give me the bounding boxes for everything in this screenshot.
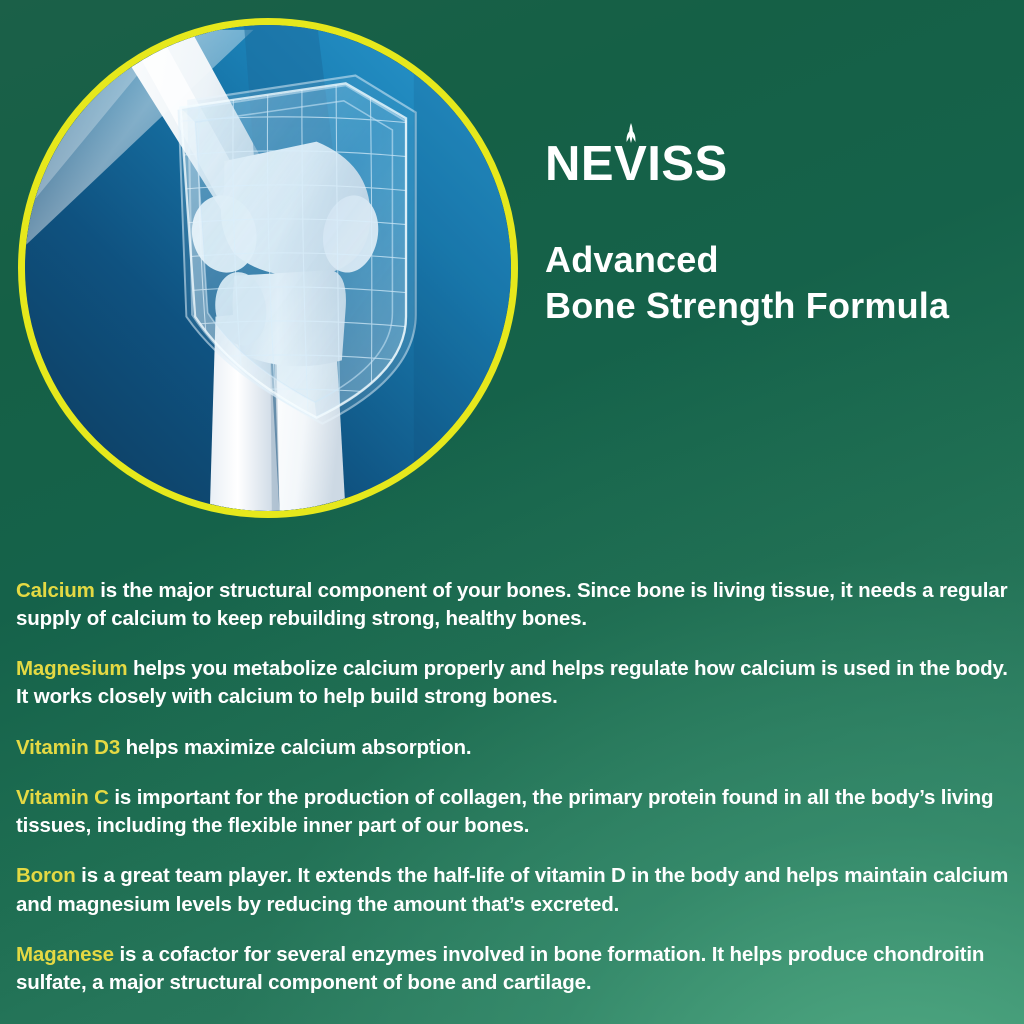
ingredient-name: Magnesium: [16, 657, 127, 680]
hero-circle-frame: [18, 18, 518, 518]
ingredient-paragraph-vitamin-c: Vitamin C is important for the productio…: [16, 784, 1012, 841]
ingredient-paragraph-manganese: Maganese is a cofactor for several enzym…: [16, 941, 1012, 998]
ingredient-paragraph-boron: Boron is a great team player. It extends…: [16, 862, 1012, 919]
ingredient-description: is a cofactor for several enzymes involv…: [16, 943, 984, 994]
ingredient-description: is important for the production of colla…: [16, 786, 993, 837]
ingredient-name: Boron: [16, 864, 76, 887]
brand-name-prefix: NE: [545, 137, 614, 191]
ingredient-name: Maganese: [16, 943, 114, 966]
ingredient-description: helps maximize calcium absorption.: [120, 736, 471, 759]
ingredient-name: Vitamin D3: [16, 736, 120, 759]
ingredient-description: is a great team player. It extends the h…: [16, 864, 1008, 915]
brand-logo-v-with-sprout: V: [614, 140, 647, 189]
ingredient-description: helps you metabolize calcium properly an…: [16, 657, 1008, 708]
ingredient-paragraph-vitamin-d3: Vitamin D3 helps maximize calcium absorp…: [16, 734, 1012, 762]
sprout-leaf-icon: [623, 123, 639, 145]
ingredient-name: Calcium: [16, 579, 95, 602]
ingredient-name: Vitamin C: [16, 786, 109, 809]
brand-name-v: V: [614, 137, 647, 191]
brand-name-suffix: ISS: [647, 137, 727, 191]
brand-logo: NEVISS: [545, 140, 728, 189]
product-info-poster: NEVISS Advanced Bone Strength Formula Ca…: [0, 0, 1024, 1024]
ingredient-list: Calcium is the major structural componen…: [16, 556, 1012, 998]
ingredient-paragraph-calcium: Calcium is the major structural componen…: [16, 577, 1012, 634]
ingredient-paragraph-magnesium: Magnesium helps you metabolize calcium p…: [16, 655, 1012, 712]
headline-line-2: Bone Strength Formula: [545, 283, 949, 329]
page-title: Advanced Bone Strength Formula: [545, 237, 949, 329]
headline-line-1: Advanced: [545, 239, 719, 280]
knee-joint-shield-illustration: [25, 25, 511, 511]
ingredient-description: is the major structural component of you…: [16, 579, 1007, 630]
